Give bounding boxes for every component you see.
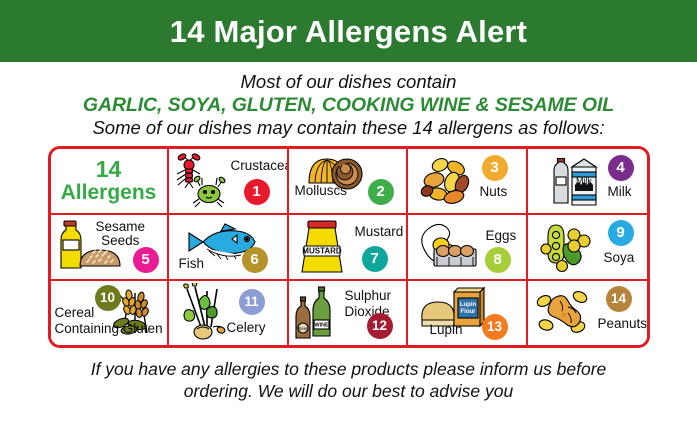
celery-stalk-icon <box>177 283 233 341</box>
allergen-label: Molluscs <box>295 184 348 199</box>
allergen-badge: 12 <box>367 313 393 339</box>
mixed-nuts-icon <box>418 154 480 208</box>
allergen-badge: 6 <box>242 247 268 273</box>
allergen-badge: 1 <box>244 179 270 205</box>
allergen-cell-cereal-gluten[interactable]: Cereal Containing Gluten 10 <box>51 281 169 345</box>
allergen-cell-crustaceans[interactable]: Crustaceans 1 <box>169 149 289 213</box>
allergen-cell-nuts[interactable]: Nuts 3 <box>408 149 528 213</box>
allergen-cell-sesame-seeds[interactable]: Sesame Seeds 5 <box>51 215 169 279</box>
soya-beans-icon <box>536 219 598 275</box>
allergen-cell-lupin[interactable]: Lupin Flour Lupin 13 <box>408 281 528 345</box>
svg-text:Lupin: Lupin <box>459 302 476 308</box>
allergen-label: Fish <box>179 257 205 272</box>
eggs-carton-icon <box>414 219 482 275</box>
grid-row: Cereal Containing Gluten 10 Celery <box>51 281 647 345</box>
mustard-jar-icon: MUSTARD <box>295 218 351 276</box>
allergen-label: Milk <box>608 185 632 200</box>
intro-block: Most of our dishes contain GARLIC, SOYA,… <box>0 62 697 140</box>
peanuts-icon <box>534 287 598 337</box>
allergen-grid-wrapper: 14 Allergens <box>48 146 650 348</box>
allergen-badge: 8 <box>485 247 511 273</box>
allergen-badge: 2 <box>368 179 394 205</box>
allergen-badge: 10 <box>95 285 121 311</box>
allergen-cell-soya[interactable]: Soya 9 <box>528 215 647 279</box>
intro-line-2-allergen-list: GARLIC, SOYA, GLUTEN, COOKING WINE & SES… <box>0 94 697 118</box>
svg-text:Flour: Flour <box>460 309 476 315</box>
allergen-cell-celery[interactable]: Celery 11 <box>169 281 289 345</box>
allergen-cell-milk[interactable]: Milk Milk 4 <box>528 149 647 213</box>
allergen-cell-peanuts[interactable]: Peanuts 14 <box>528 281 647 345</box>
svg-text:MUSTARD: MUSTARD <box>302 246 342 255</box>
allergen-badge: 14 <box>606 286 632 312</box>
footer-line-2: ordering. We will do our best to advise … <box>24 380 673 402</box>
allergen-cell-molluscs[interactable]: Molluscs 2 <box>289 149 408 213</box>
allergen-label: Peanuts <box>598 317 647 332</box>
allergen-label: Sesame Seeds <box>96 220 146 249</box>
header-banner: 14 Major Allergens Alert <box>0 0 697 62</box>
svg-text:WINE: WINE <box>314 322 329 328</box>
allergen-grid: 14 Allergens <box>48 146 650 348</box>
intro-line-3: Some of our dishes may contain these 14 … <box>0 117 697 140</box>
grid-title-cell: 14 Allergens <box>51 149 169 213</box>
grid-title-word: Allergens <box>61 182 157 204</box>
footer-line-1: If you have any allergies to these produ… <box>24 358 673 380</box>
allergen-label: Soya <box>604 251 635 266</box>
allergen-cell-fish[interactable]: Fish 6 <box>169 215 289 279</box>
allergen-label: Nuts <box>480 185 508 200</box>
intro-line-1: Most of our dishes contain <box>0 71 697 94</box>
allergen-cell-eggs[interactable]: Eggs 8 <box>408 215 528 279</box>
allergen-label: Crustaceans <box>231 159 289 174</box>
allergen-label: Lupin <box>430 323 463 338</box>
footer-block: If you have any allergies to these produ… <box>0 358 697 403</box>
allergen-label: Eggs <box>486 229 517 244</box>
allergen-badge: 4 <box>608 155 634 181</box>
grid-row: Sesame Seeds 5 Fish 6 <box>51 215 647 281</box>
page-title: 14 Major Allergens Alert <box>170 16 527 47</box>
grid-row: 14 Allergens <box>51 149 647 215</box>
allergen-cell-mustard[interactable]: MUSTARD Mustard 7 <box>289 215 408 279</box>
lobster-crab-icon <box>173 153 231 209</box>
allergen-badge: 11 <box>239 289 265 315</box>
wine-bottles-icon: Beer WINE <box>293 284 343 342</box>
grid-title-number: 14 <box>96 158 122 181</box>
allergen-label: Celery <box>227 321 266 336</box>
allergen-badge: 9 <box>608 220 634 246</box>
svg-text:Milk: Milk <box>576 176 592 186</box>
svg-text:Beer: Beer <box>298 326 308 331</box>
allergen-label: Mustard <box>355 225 404 240</box>
allergen-cell-sulphur-dioxide[interactable]: Beer WINE Sulphur Dioxide 12 <box>289 281 408 345</box>
milk-carton-icon: Milk <box>542 153 600 209</box>
allergen-badge: 3 <box>482 155 508 181</box>
allergen-badge: 5 <box>133 247 159 273</box>
allergen-badge: 13 <box>482 314 508 340</box>
allergen-badge: 7 <box>362 246 388 272</box>
